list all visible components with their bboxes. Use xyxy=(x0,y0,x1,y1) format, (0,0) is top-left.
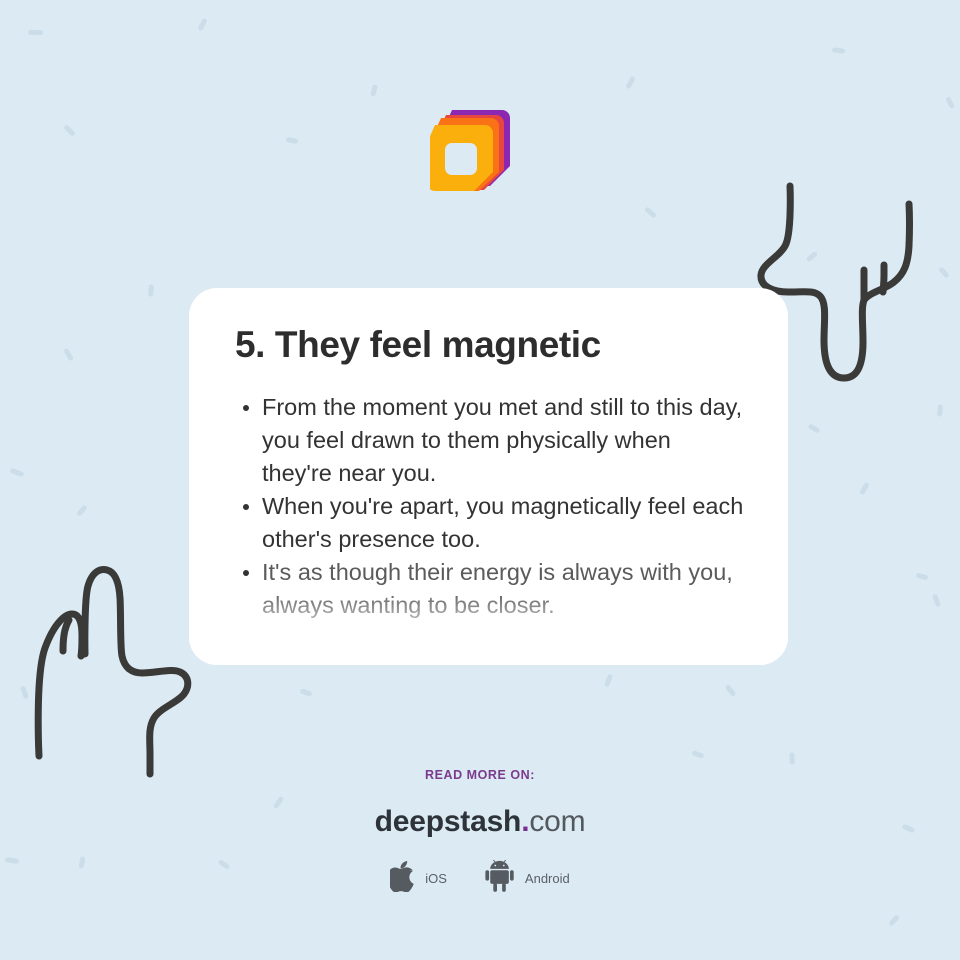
confetti-speck xyxy=(806,251,818,263)
android-store-badge[interactable]: Android xyxy=(485,860,570,897)
card-inner: 5. They feel magnetic From the moment yo… xyxy=(189,288,788,622)
confetti-speck xyxy=(625,76,636,90)
read-more-label: READ MORE ON: xyxy=(0,768,960,782)
confetti-speck xyxy=(148,284,154,296)
confetti-speck xyxy=(808,423,821,433)
android-label: Android xyxy=(525,871,570,886)
logo-inner-cutout xyxy=(445,143,477,175)
confetti-speck xyxy=(832,47,846,54)
ios-label: iOS xyxy=(425,871,447,886)
confetti-speck xyxy=(604,674,614,688)
confetti-speck xyxy=(932,594,941,608)
confetti-speck xyxy=(63,124,76,137)
ios-store-badge[interactable]: iOS xyxy=(390,861,447,897)
confetti-speck xyxy=(76,504,88,516)
wordmark-name: deepstash xyxy=(375,805,522,838)
confetti-speck xyxy=(916,573,929,581)
page-title: 5. They feel magnetic xyxy=(235,324,744,365)
confetti-speck xyxy=(300,688,313,696)
apple-icon xyxy=(390,861,416,897)
content-card: 5. They feel magnetic From the moment yo… xyxy=(189,288,788,665)
confetti-speck xyxy=(692,750,705,759)
confetti-speck xyxy=(370,84,378,97)
confetti-speck xyxy=(945,96,955,109)
bullet-list: From the moment you met and still to thi… xyxy=(235,391,744,622)
confetti-speck xyxy=(789,752,794,764)
android-icon xyxy=(485,860,516,897)
confetti-speck xyxy=(725,684,737,697)
wordmark-tld: com xyxy=(529,805,585,838)
confetti-speck xyxy=(20,686,29,700)
footer: READ MORE ON: deepstash.com iOS xyxy=(0,768,960,897)
confetti-speck xyxy=(28,30,43,36)
brand-wordmark[interactable]: deepstash.com xyxy=(0,807,960,837)
confetti-speck xyxy=(10,468,25,477)
list-item: When you're apart, you magnetically feel… xyxy=(235,490,744,556)
confetti-speck xyxy=(286,137,299,144)
confetti-speck xyxy=(888,914,900,926)
confetti-speck xyxy=(63,348,74,362)
confetti-speck xyxy=(644,206,657,218)
confetti-speck xyxy=(197,18,208,32)
list-item: It's as though their energy is always wi… xyxy=(235,556,744,622)
confetti-speck xyxy=(937,404,943,416)
confetti-speck xyxy=(938,266,950,278)
store-badges: iOS Android xyxy=(0,860,960,897)
list-item: From the moment you met and still to thi… xyxy=(235,391,744,490)
confetti-speck xyxy=(859,482,870,496)
deepstash-logo xyxy=(430,104,516,192)
